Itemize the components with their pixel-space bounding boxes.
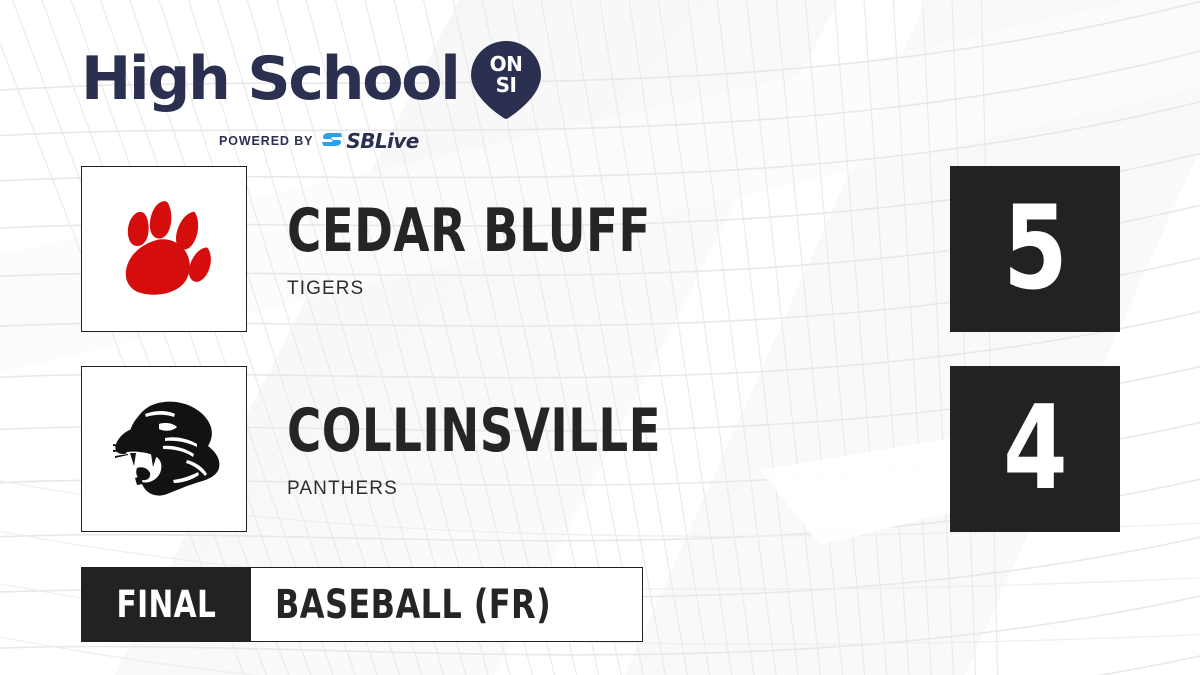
team-score-box: 4 [950, 366, 1120, 532]
team-score: 4 [1003, 391, 1068, 507]
powered-by-label: POWERED BY [219, 134, 313, 148]
team-logo-card [81, 366, 247, 532]
pin-text-si: SI [495, 73, 516, 97]
page-title: High School [81, 49, 459, 109]
brand-header: High School ON SI POWERED BY SBLive [81, 38, 543, 153]
team-row: CEDAR BLUFF TIGERS 5 [81, 166, 1120, 332]
game-status-bar: FINAL BASEBALL (FR) [81, 567, 643, 642]
team-score-box: 5 [950, 166, 1120, 332]
powered-by-row: POWERED BY SBLive [95, 129, 543, 153]
sblive-s-mark-icon [321, 131, 343, 151]
brand-title-row: High School ON SI [81, 38, 543, 120]
team-name: CEDAR BLUFF [287, 201, 651, 261]
on-si-pin-icon: ON SI [469, 40, 543, 120]
panther-head-logo [103, 394, 225, 504]
team-logo-card [81, 166, 247, 332]
sblive-logo: SBLive [321, 129, 418, 153]
team-name: COLLINSVILLE [287, 401, 661, 461]
team-row: COLLINSVILLE PANTHERS 4 [81, 366, 1120, 532]
sport-label-container: BASEBALL (FR) [251, 568, 642, 641]
sport-label: BASEBALL (FR) [275, 585, 551, 625]
team-text-block: CEDAR BLUFF TIGERS [287, 166, 753, 332]
team-mascot: PANTHERS [287, 479, 766, 498]
team-mascot: TIGERS [287, 279, 753, 298]
sblive-wordmark-text: SBLive [346, 129, 418, 153]
team-text-block: COLLINSVILLE PANTHERS [287, 366, 766, 532]
status-badge-label: FINAL [116, 586, 216, 623]
team-score: 5 [1003, 191, 1068, 307]
tiger-paw-logo [105, 190, 223, 308]
status-badge: FINAL [82, 568, 251, 641]
